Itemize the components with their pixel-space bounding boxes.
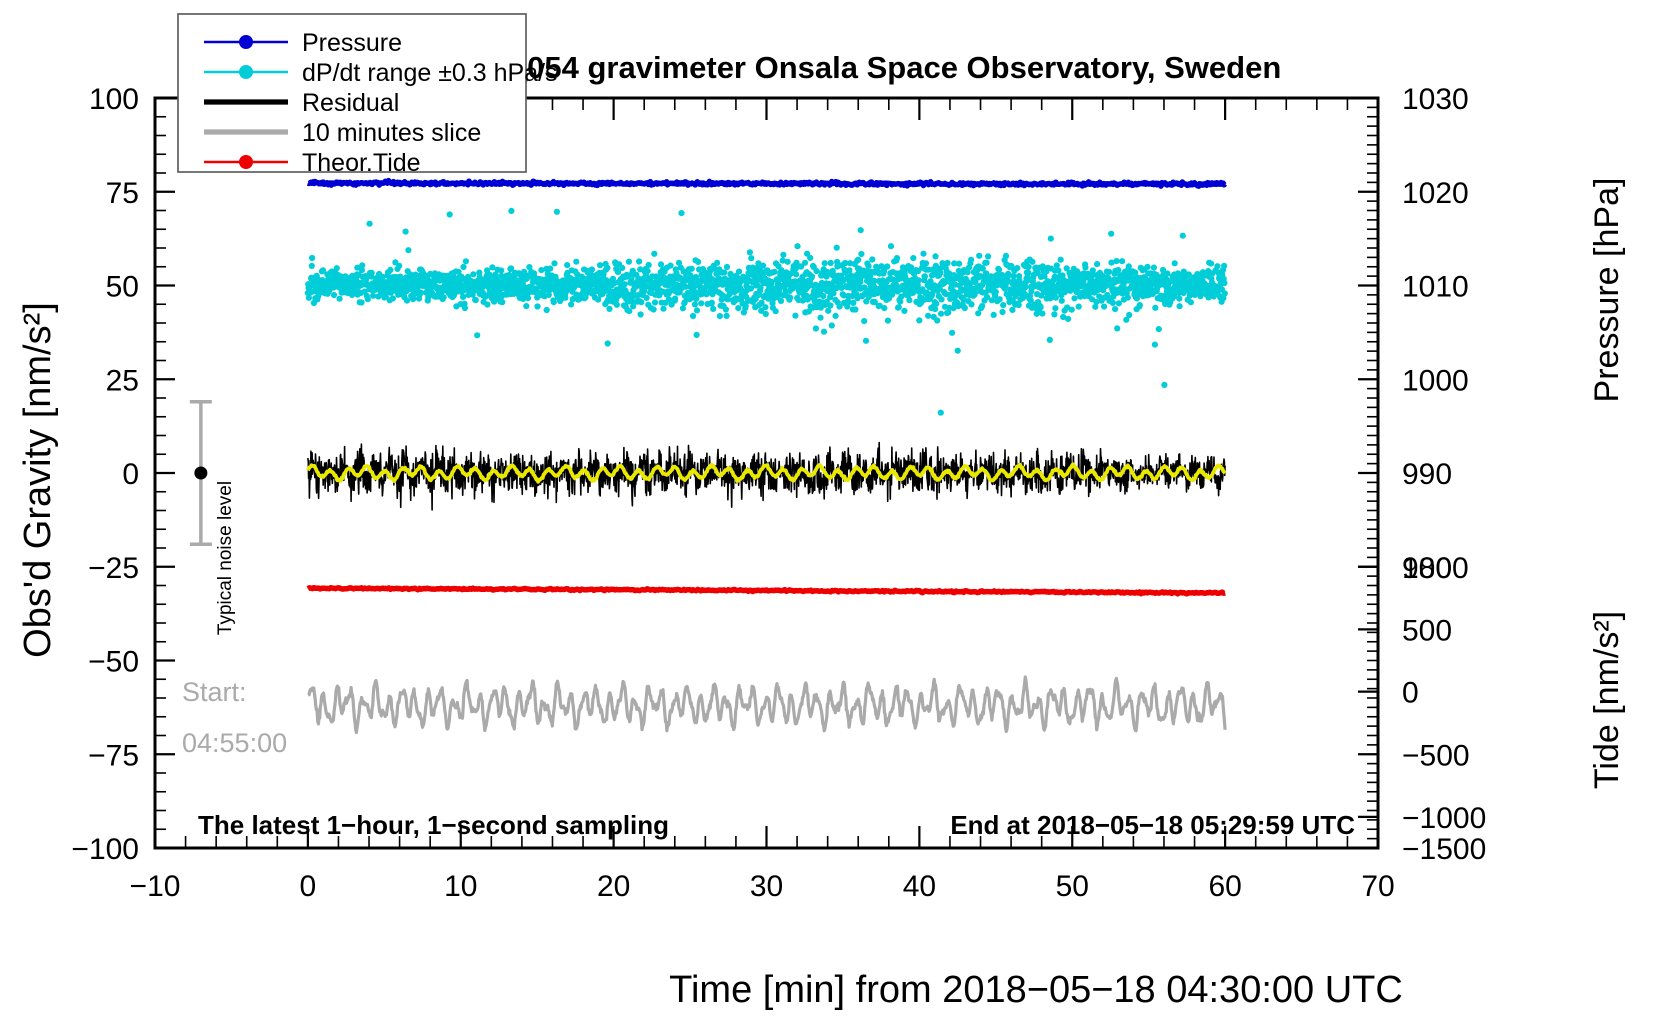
- pressure-trace: [308, 181, 1225, 187]
- dpdt-point: [1003, 253, 1009, 259]
- dpdt-point: [1222, 290, 1228, 296]
- dpdt-point: [619, 265, 625, 271]
- dpdt-point: [1048, 236, 1054, 242]
- dpdt-point: [888, 243, 894, 249]
- end-note: End at 2018−05−18 05:29:59 UTC: [950, 810, 1355, 840]
- dpdt-point: [1053, 295, 1059, 301]
- dpdt-point: [1093, 299, 1099, 305]
- dpdt-point: [773, 308, 779, 314]
- dpdt-point: [855, 257, 861, 263]
- dpdt-point: [1108, 231, 1114, 237]
- dpdt-point: [672, 296, 678, 302]
- dpdt-point: [933, 301, 939, 307]
- dpdt-point: [968, 257, 974, 263]
- dpdt-point: [604, 265, 610, 271]
- dpdt-point: [334, 265, 340, 271]
- dpdt-point: [597, 262, 603, 268]
- pressure-tick-label: 990: [1402, 458, 1452, 491]
- dpdt-point: [473, 297, 479, 303]
- dpdt-point: [404, 298, 410, 304]
- series-pressure: [308, 181, 1225, 187]
- dpdt-point: [735, 305, 741, 311]
- dpdt-point: [813, 325, 819, 331]
- dpdt-point: [763, 311, 769, 317]
- y-axis-title: Obs'd Gravity [nm/s²]: [17, 302, 59, 658]
- dpdt-point: [508, 208, 514, 214]
- dpdt-point: [793, 271, 799, 277]
- tide-tick-label: 500: [1402, 614, 1452, 647]
- pressure-tick-label: 1000: [1402, 364, 1469, 397]
- dpdt-point: [721, 269, 727, 275]
- tide-tick-label: −1500: [1402, 833, 1486, 866]
- dpdt-point: [829, 322, 835, 328]
- y-tick-label: −75: [88, 739, 139, 772]
- dpdt-point: [828, 260, 834, 266]
- dpdt-point: [331, 292, 337, 298]
- dpdt-point: [1076, 304, 1082, 310]
- dpdt-point: [938, 410, 944, 416]
- dpdt-point: [881, 305, 887, 311]
- dpdt-point: [689, 266, 695, 272]
- dpdt-point: [622, 281, 628, 287]
- noise-level-label: Typical noise level: [215, 481, 236, 635]
- dpdt-point: [589, 266, 595, 272]
- dpdt-point: [551, 299, 557, 305]
- dpdt-point: [794, 243, 800, 249]
- dpdt-point: [484, 302, 490, 308]
- dpdt-point: [606, 306, 612, 312]
- dpdt-point: [869, 256, 875, 262]
- dpdt-point: [470, 271, 476, 277]
- dpdt-point: [1177, 303, 1183, 309]
- dpdt-point: [1214, 263, 1220, 269]
- dpdt-point: [724, 264, 730, 270]
- dpdt-point: [1052, 305, 1058, 311]
- dpdt-point: [1172, 260, 1178, 266]
- y-tick-label: 100: [89, 83, 139, 116]
- dpdt-point: [651, 306, 657, 312]
- dpdt-point: [498, 267, 504, 273]
- dpdt-point: [692, 301, 698, 307]
- dpdt-point: [820, 293, 826, 299]
- dpdt-point: [309, 263, 315, 269]
- dpdt-point: [1069, 307, 1075, 313]
- dpdt-point: [925, 313, 931, 319]
- plot-title: SCG_054 gravimeter Onsala Space Observat…: [443, 50, 1282, 85]
- dpdt-point: [1126, 312, 1132, 318]
- dpdt-point: [1126, 263, 1132, 269]
- dpdt-point: [1113, 258, 1119, 264]
- dpdt-point: [678, 210, 684, 216]
- y-tick-label: 0: [122, 458, 139, 491]
- dpdt-point: [337, 296, 343, 302]
- dpdt-point: [894, 255, 900, 261]
- dpdt-point: [1152, 305, 1158, 311]
- dpdt-point: [1016, 302, 1022, 308]
- y-tick-label: −25: [88, 552, 139, 585]
- dpdt-point: [695, 259, 701, 265]
- dpdt-point: [544, 307, 550, 313]
- dpdt-point: [999, 309, 1005, 315]
- dpdt-point: [1221, 263, 1227, 269]
- dpdt-point: [932, 253, 938, 259]
- dpdt-point: [1025, 270, 1031, 276]
- dpdt-point: [944, 260, 950, 266]
- dpdt-point: [710, 306, 716, 312]
- dpdt-point: [1047, 337, 1053, 343]
- dpdt-point: [390, 295, 396, 301]
- dpdt-point: [646, 262, 652, 268]
- dpdt-point: [396, 263, 402, 269]
- dpdt-point: [724, 313, 730, 319]
- dpdt-point: [1137, 302, 1143, 308]
- dpdt-point: [460, 294, 466, 300]
- dpdt-point: [1152, 342, 1158, 348]
- dpdt-point: [1112, 306, 1118, 312]
- dpdt-point: [1009, 307, 1015, 313]
- dpdt-point: [885, 318, 891, 324]
- dpdt-point: [717, 313, 723, 319]
- y-tick-label: 75: [106, 177, 139, 210]
- dpdt-point: [1039, 311, 1045, 317]
- dpdt-point: [698, 300, 704, 306]
- dpdt-point: [780, 252, 786, 258]
- dpdt-point: [979, 303, 985, 309]
- pressure-axis-title: Pressure [hPa]: [1588, 178, 1626, 403]
- dpdt-point: [906, 297, 912, 303]
- dpdt-point: [1058, 257, 1064, 263]
- dpdt-point: [562, 295, 568, 301]
- dpdt-point: [1164, 270, 1170, 276]
- dpdt-point: [1151, 265, 1157, 271]
- dpdt-point: [747, 249, 753, 255]
- dpdt-point: [525, 295, 531, 301]
- dpdt-point: [858, 251, 864, 257]
- gravimeter-plot: −10010203040506070 1007550250−25−50−75−1…: [0, 0, 1676, 1020]
- dpdt-point: [489, 264, 495, 270]
- dpdt-point: [1119, 258, 1125, 264]
- dpdt-point: [523, 303, 529, 309]
- dpdt-point: [834, 245, 840, 251]
- sampling-note: The latest 1−hour, 1−second sampling: [198, 810, 669, 840]
- dpdt-point: [1176, 296, 1182, 302]
- dpdt-point: [916, 277, 922, 283]
- dpdt-point: [460, 264, 466, 270]
- dpdt-point: [984, 260, 990, 266]
- x-tick-label: 20: [597, 870, 630, 903]
- dpdt-point: [714, 260, 720, 266]
- dpdt-point: [807, 255, 813, 261]
- dpdt-point: [667, 263, 673, 269]
- tide-tick-label: 0: [1402, 677, 1419, 710]
- dpdt-point: [1144, 264, 1150, 270]
- dpdt-point: [644, 295, 650, 301]
- legend-label-1: dP/dt range ±0.3 hPa/s: [302, 59, 558, 87]
- dpdt-point: [1188, 299, 1194, 305]
- dpdt-point: [772, 269, 778, 275]
- legend-label-4: Theor.Tide: [302, 149, 421, 177]
- dpdt-point: [723, 306, 729, 312]
- dpdt-point: [821, 329, 827, 335]
- dpdt-point: [636, 258, 642, 264]
- x-tick-label: −10: [130, 870, 181, 903]
- legend: PressuredP/dt range ±0.3 hPa/sResidual10…: [178, 14, 558, 177]
- dpdt-point: [573, 259, 579, 265]
- legend-label-2: Residual: [302, 89, 399, 117]
- y-tick-label: 25: [106, 364, 139, 397]
- dpdt-point: [922, 273, 928, 279]
- dpdt-point: [403, 229, 409, 235]
- dpdt-point: [645, 268, 651, 274]
- dpdt-point: [1038, 304, 1044, 310]
- dpdt-point: [920, 251, 926, 257]
- dpdt-point: [1221, 280, 1227, 286]
- dpdt-point: [369, 270, 375, 276]
- dpdt-point: [938, 296, 944, 302]
- dpdt-point: [1082, 264, 1088, 270]
- dpdt-point: [463, 258, 469, 264]
- dpdt-point: [993, 289, 999, 295]
- dpdt-point: [857, 279, 863, 285]
- dpdt-point: [1114, 325, 1120, 331]
- dpdt-point: [923, 260, 929, 266]
- dpdt-point: [694, 332, 700, 338]
- dpdt-point: [846, 267, 852, 273]
- dpdt-point: [638, 299, 644, 305]
- dpdt-point: [852, 306, 858, 312]
- dpdt-point: [694, 307, 700, 313]
- dpdt-point: [359, 262, 365, 268]
- dpdt-point: [309, 255, 315, 261]
- dpdt-point: [405, 247, 411, 253]
- tide-tick-label: −1000: [1402, 802, 1486, 835]
- dpdt-point: [1000, 302, 1006, 308]
- dpdt-point: [955, 348, 961, 354]
- dpdt-point: [547, 266, 553, 272]
- dpdt-point: [638, 311, 644, 317]
- dpdt-point: [910, 255, 916, 261]
- dpdt-point: [474, 332, 480, 338]
- dpdt-point: [447, 211, 453, 217]
- start-label: Start:: [182, 677, 247, 707]
- dpdt-point: [370, 293, 376, 299]
- x-tick-label: 0: [300, 870, 317, 903]
- dpdt-point: [762, 304, 768, 310]
- dpdt-point: [709, 300, 715, 306]
- dpdt-point: [1059, 298, 1065, 304]
- dpdt-point: [787, 295, 793, 301]
- dpdt-point: [551, 260, 557, 266]
- dpdt-point: [1071, 295, 1077, 301]
- dpdt-point: [1125, 295, 1131, 301]
- dpdt-point: [1180, 233, 1186, 239]
- x-tick-label: 50: [1056, 870, 1089, 903]
- dpdt-point: [949, 330, 955, 336]
- dpdt-point: [1116, 300, 1122, 306]
- start-time: 04:55:00: [182, 728, 287, 758]
- dpdt-point: [833, 313, 839, 319]
- x-axis-title: Time [min] from 2018−05−18 04:30:00 UTC: [669, 969, 1403, 1011]
- dpdt-point: [1065, 316, 1071, 322]
- legend-marker-4: [239, 155, 253, 169]
- dpdt-point: [861, 318, 867, 324]
- dpdt-point: [792, 313, 798, 319]
- dpdt-point: [997, 296, 1003, 302]
- dpdt-point: [809, 273, 815, 279]
- dpdt-point: [418, 290, 424, 296]
- dpdt-point: [996, 267, 1002, 273]
- dpdt-point: [916, 317, 922, 323]
- dpdt-point: [1094, 261, 1100, 267]
- dpdt-point: [778, 298, 784, 304]
- dpdt-point: [358, 299, 364, 305]
- dpdt-point: [962, 305, 968, 311]
- dpdt-point: [1026, 264, 1032, 270]
- x-tick-label: 30: [750, 870, 783, 903]
- dpdt-point: [690, 313, 696, 319]
- dpdt-point: [985, 253, 991, 259]
- pressure-tick-label: 1020: [1402, 177, 1469, 210]
- dpdt-point: [858, 227, 864, 233]
- dpdt-point: [938, 311, 944, 317]
- dpdt-point: [1110, 300, 1116, 306]
- dpdt-point: [1101, 304, 1107, 310]
- pressure-tick-label: 1030: [1402, 83, 1469, 116]
- dpdt-point: [534, 303, 540, 309]
- dpdt-point: [976, 253, 982, 259]
- dpdt-point: [932, 306, 938, 312]
- dpdt-point: [462, 305, 468, 311]
- legend-marker-1: [239, 65, 253, 79]
- dpdt-point: [605, 340, 611, 346]
- dpdt-point: [1161, 382, 1167, 388]
- dpdt-point: [814, 268, 820, 274]
- dpdt-point: [785, 259, 791, 265]
- dpdt-point: [614, 302, 620, 308]
- dpdt-point: [760, 263, 766, 269]
- y-tick-label: −50: [88, 646, 139, 679]
- dpdt-point: [1040, 263, 1046, 269]
- tide-axis-title: Tide [nm/s²]: [1588, 611, 1626, 789]
- dpdt-point: [441, 294, 447, 300]
- legend-marker-0: [239, 35, 253, 49]
- dpdt-point: [850, 300, 856, 306]
- dpdt-point: [748, 255, 754, 261]
- dpdt-point: [937, 270, 943, 276]
- x-tick-label: 60: [1208, 870, 1241, 903]
- dpdt-point: [802, 260, 808, 266]
- dpdt-point: [822, 260, 828, 266]
- dpdt-point: [863, 338, 869, 344]
- dpdt-point: [934, 317, 940, 323]
- dpdt-point: [1156, 326, 1162, 332]
- dpdt-point: [825, 308, 831, 314]
- dpdt-point: [365, 296, 371, 302]
- dpdt-point: [956, 261, 962, 267]
- x-tick-label: 40: [903, 870, 936, 903]
- dpdt-point: [884, 263, 890, 269]
- x-tick-label: 10: [444, 870, 477, 903]
- noise-center-dot: [194, 467, 207, 480]
- dpdt-point: [652, 299, 658, 305]
- dpdt-point: [651, 251, 657, 257]
- dpdt-point: [1106, 269, 1112, 275]
- dpdt-point: [554, 209, 560, 215]
- dpdt-point: [499, 299, 505, 305]
- dpdt-point: [736, 269, 742, 275]
- legend-label-0: Pressure: [302, 29, 402, 57]
- pressure-tick-label: 1010: [1402, 271, 1469, 304]
- dpdt-point: [1051, 311, 1057, 317]
- legend-label-3: 10 minutes slice: [302, 119, 481, 147]
- y-tick-label: 50: [106, 271, 139, 304]
- dpdt-point: [1029, 259, 1035, 265]
- dpdt-point: [896, 304, 902, 310]
- dpdt-point: [865, 263, 871, 269]
- tide-tick-label: 1000: [1402, 552, 1469, 585]
- dpdt-point: [991, 312, 997, 318]
- dpdt-point: [1005, 271, 1011, 277]
- y-tick-label: −100: [71, 833, 139, 866]
- dpdt-point: [901, 308, 907, 314]
- dpdt-point: [626, 259, 632, 265]
- x-tick-label: 70: [1361, 870, 1394, 903]
- dpdt-point: [827, 302, 833, 308]
- dpdt-point: [367, 221, 373, 227]
- dpdt-point: [660, 306, 666, 312]
- dpdt-point: [968, 301, 974, 307]
- dpdt-point: [817, 315, 823, 321]
- tide-tick-label: −500: [1402, 739, 1470, 772]
- dpdt-point: [1208, 261, 1214, 267]
- dpdt-point: [1014, 265, 1020, 271]
- dpdt-point: [387, 267, 393, 273]
- dpdt-point: [564, 262, 570, 268]
